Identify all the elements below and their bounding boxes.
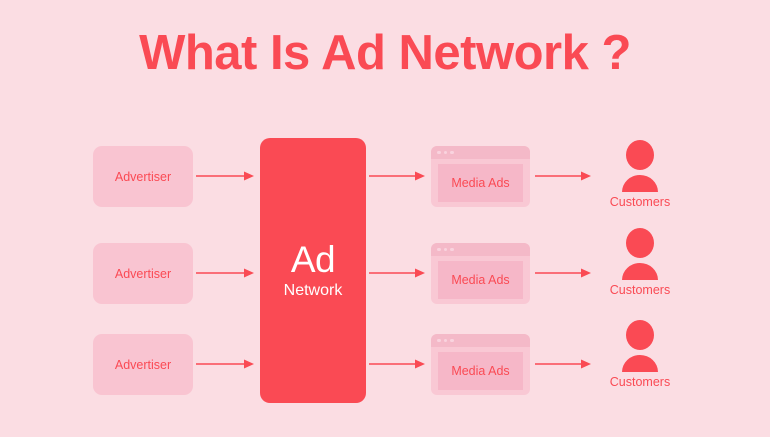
window-dot-icon: [450, 339, 454, 343]
media-ads-label: Media Ads: [451, 176, 509, 190]
ad-slot: Media Ads: [438, 261, 523, 299]
customer-group: Customers: [596, 228, 684, 297]
arrow-media-to-customers: [535, 358, 597, 370]
browser-titlebar: [431, 146, 530, 159]
arrow-network-to-media: [369, 358, 431, 370]
ad-network-subtitle: Network: [284, 281, 343, 300]
customer-person-icon: [618, 140, 662, 192]
ad-slot: Media Ads: [438, 164, 523, 202]
arrow-media-to-customers: [535, 170, 597, 182]
advertiser-box: Advertiser: [93, 334, 193, 395]
customer-group: Customers: [596, 320, 684, 389]
ad-network-flow-diagram: Advertiser Media Ads Customers: [0, 120, 770, 420]
window-dot-icon: [444, 151, 448, 155]
window-dot-icon: [437, 339, 441, 343]
browser-body: Media Ads: [431, 159, 530, 207]
arrow-network-to-media: [369, 170, 431, 182]
media-ads-label: Media Ads: [451, 273, 509, 287]
media-ads-card: Media Ads: [431, 243, 530, 304]
arrow-advertiser-to-network: [196, 267, 258, 279]
browser-body: Media Ads: [431, 347, 530, 395]
ad-network-title: Ad: [291, 241, 335, 278]
ad-slot: Media Ads: [438, 352, 523, 390]
ad-network-hub: Ad Network: [260, 138, 366, 403]
arrow-network-to-media: [369, 267, 431, 279]
advertiser-label: Advertiser: [115, 358, 171, 372]
window-dot-icon: [444, 339, 448, 343]
window-dot-icon: [444, 248, 448, 252]
advertiser-label: Advertiser: [115, 170, 171, 184]
customer-person-icon: [618, 228, 662, 280]
customers-label: Customers: [596, 375, 684, 389]
arrow-advertiser-to-network: [196, 170, 258, 182]
window-dot-icon: [437, 248, 441, 252]
advertiser-label: Advertiser: [115, 267, 171, 281]
browser-titlebar: [431, 334, 530, 347]
customer-person-icon: [618, 320, 662, 372]
arrow-advertiser-to-network: [196, 358, 258, 370]
window-dot-icon: [450, 151, 454, 155]
media-ads-card: Media Ads: [431, 334, 530, 395]
page-title: What Is Ad Network ?: [0, 27, 770, 81]
media-ads-label: Media Ads: [451, 364, 509, 378]
customers-label: Customers: [596, 283, 684, 297]
window-dot-icon: [450, 248, 454, 252]
browser-titlebar: [431, 243, 530, 256]
arrow-media-to-customers: [535, 267, 597, 279]
customers-label: Customers: [596, 195, 684, 209]
advertiser-box: Advertiser: [93, 243, 193, 304]
window-dot-icon: [437, 151, 441, 155]
browser-body: Media Ads: [431, 256, 530, 304]
advertiser-box: Advertiser: [93, 146, 193, 207]
media-ads-card: Media Ads: [431, 146, 530, 207]
customer-group: Customers: [596, 140, 684, 209]
